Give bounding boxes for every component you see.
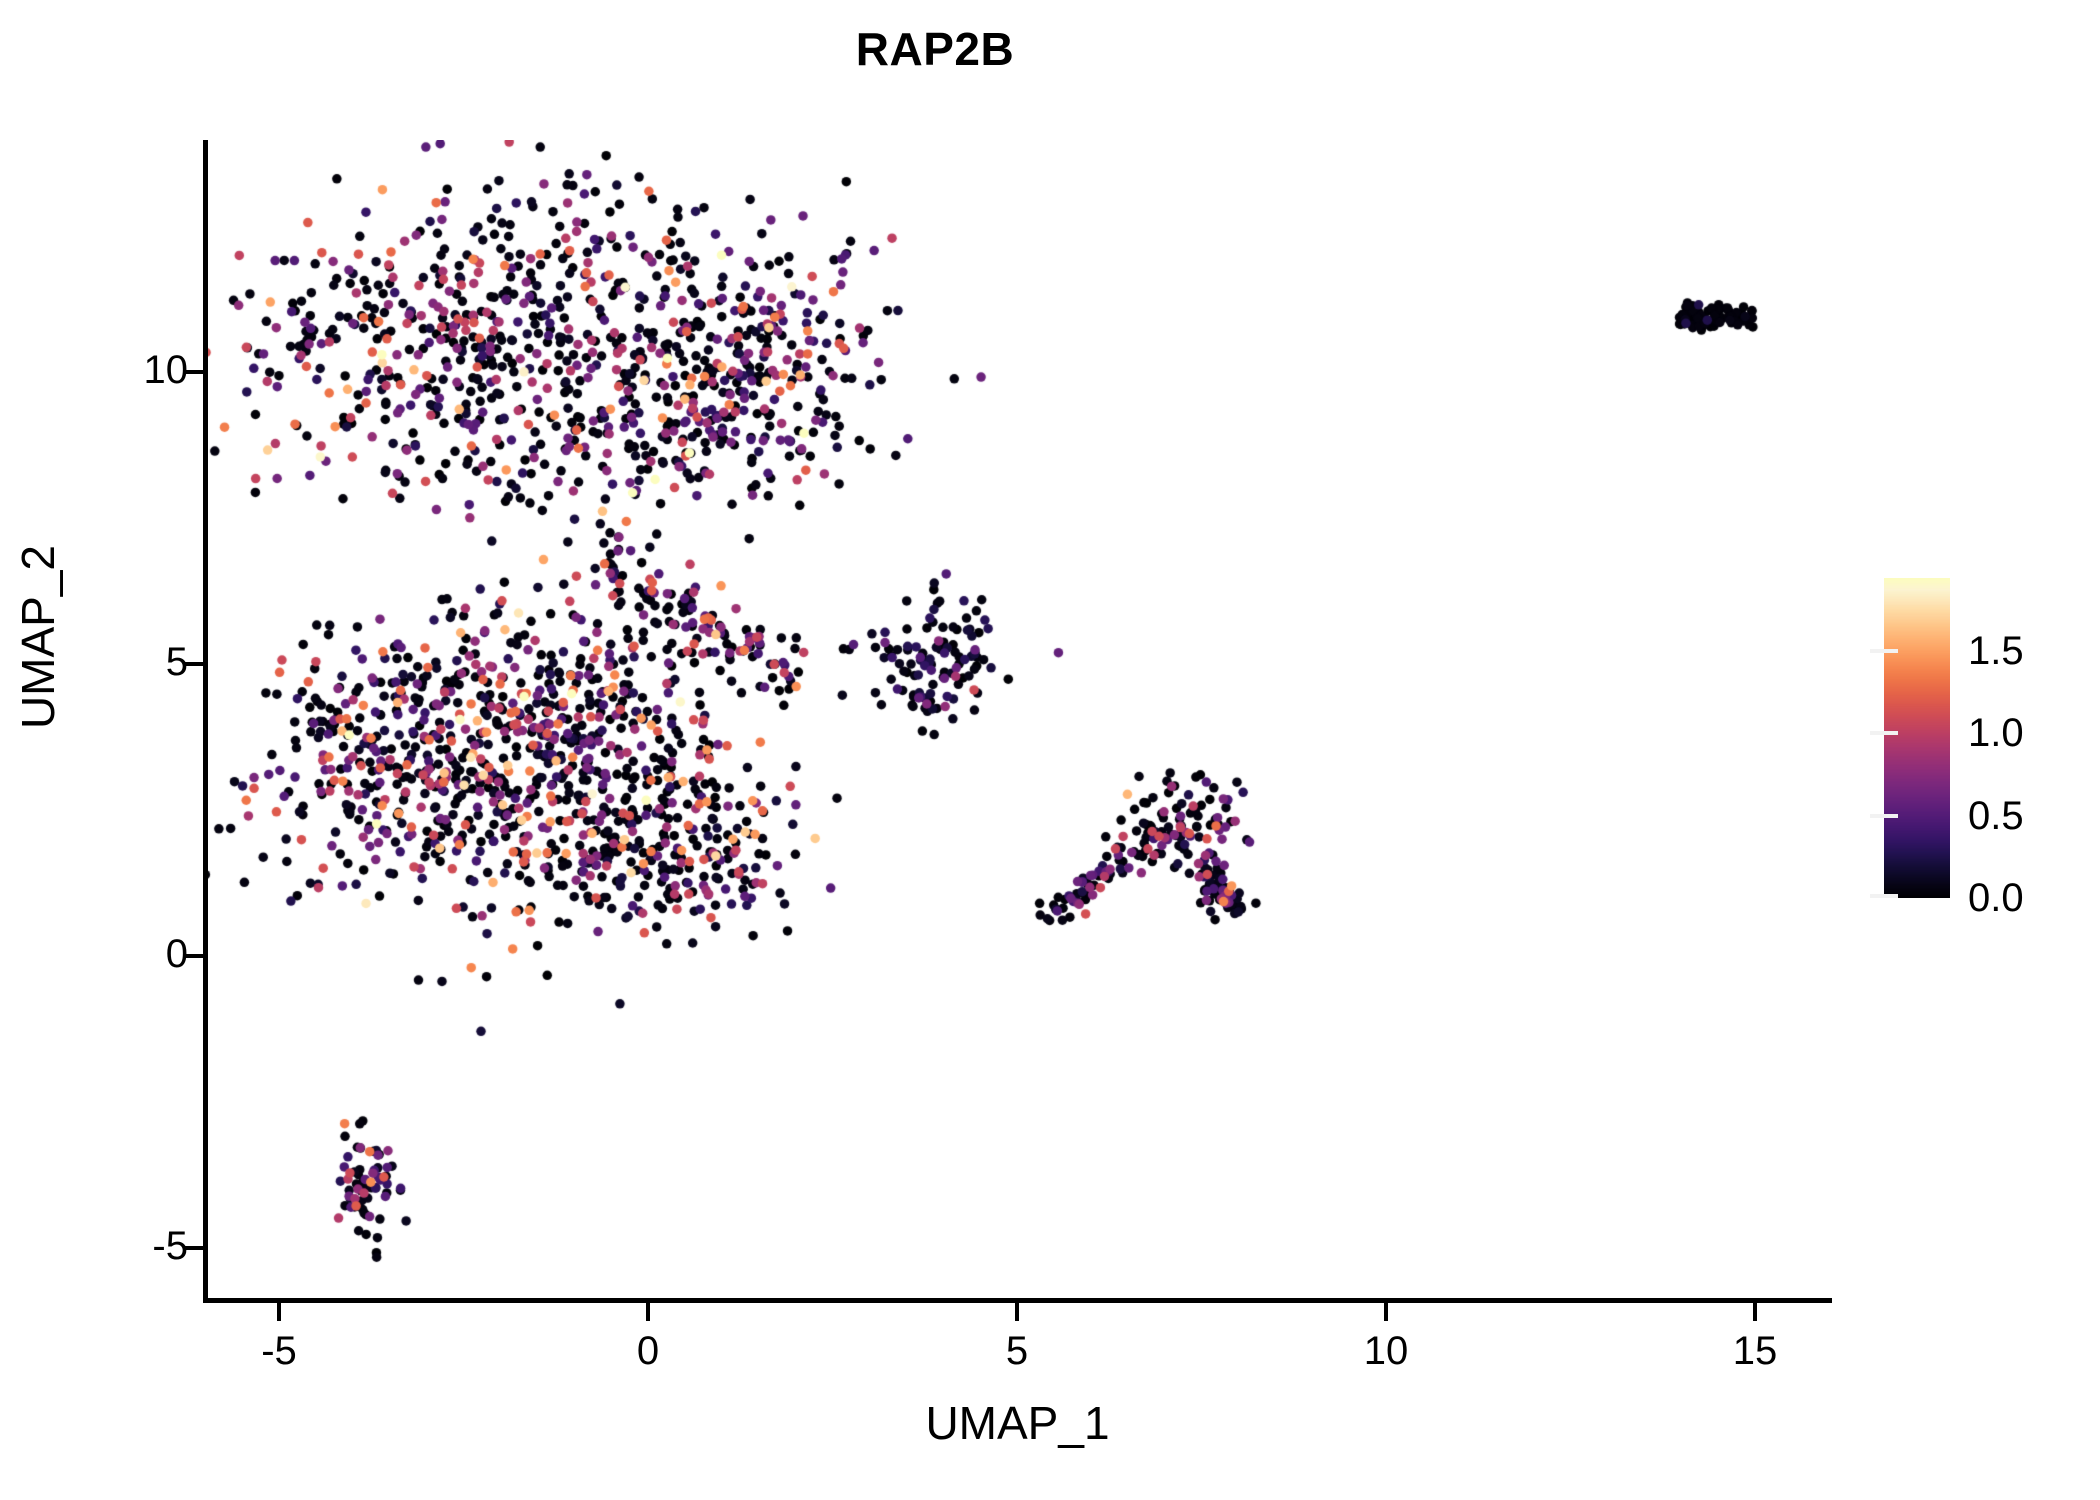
y-tick-label-0: 0 [166,934,188,974]
legend-label-0-5: 0.5 [1968,796,2024,836]
x-tick-label-10: 10 [1326,1330,1446,1372]
legend-label-1-5: 1.5 [1968,631,2024,671]
legend-tick-mark-1-5-left [1884,649,1898,653]
legend-tick-mark-1-5-right [1870,649,1884,653]
page-title: RAP2B [0,22,1870,76]
x-tick-label-0: 0 [588,1330,708,1372]
x-tick-mark-5 [1015,1303,1019,1321]
x-axis-label: UMAP_1 [203,1396,1832,1450]
x-tick-label--5: -5 [219,1330,339,1372]
x-tick-label-15: 15 [1695,1330,1815,1372]
colorbar-gradient [1884,578,1950,898]
legend-tick-mark-0-0-left [1884,894,1898,898]
y-tick-label-5: 5 [166,642,188,682]
y-tick-label-10: 10 [144,350,189,390]
legend-label-1-0: 1.0 [1968,713,2024,753]
x-tick-label-5: 5 [957,1330,1077,1372]
legend-label-0-0: 0.0 [1968,878,2024,918]
legend-tick-mark-0-0-right [1870,894,1884,898]
y-tick-label--5: -5 [152,1226,188,1266]
scatter-panel [206,140,1830,1300]
legend-tick-mark-1-0-left [1884,731,1898,735]
x-tick-mark-0 [646,1303,650,1321]
legend-tick-mark-0-5-left [1884,814,1898,818]
figure-root: RAP2B 10 5 0 -5 -5 0 5 10 15 UMAP_2 UMAP… [0,0,2100,1500]
y-axis-line [203,140,208,1302]
scatter-points [206,140,1830,1300]
x-tick-mark--5 [277,1303,281,1321]
legend-tick-mark-1-0-right [1870,731,1884,735]
y-axis-label: UMAP_2 [11,427,65,847]
x-tick-mark-15 [1753,1303,1757,1321]
legend-tick-mark-0-5-right [1870,814,1884,818]
x-tick-mark-10 [1384,1303,1388,1321]
